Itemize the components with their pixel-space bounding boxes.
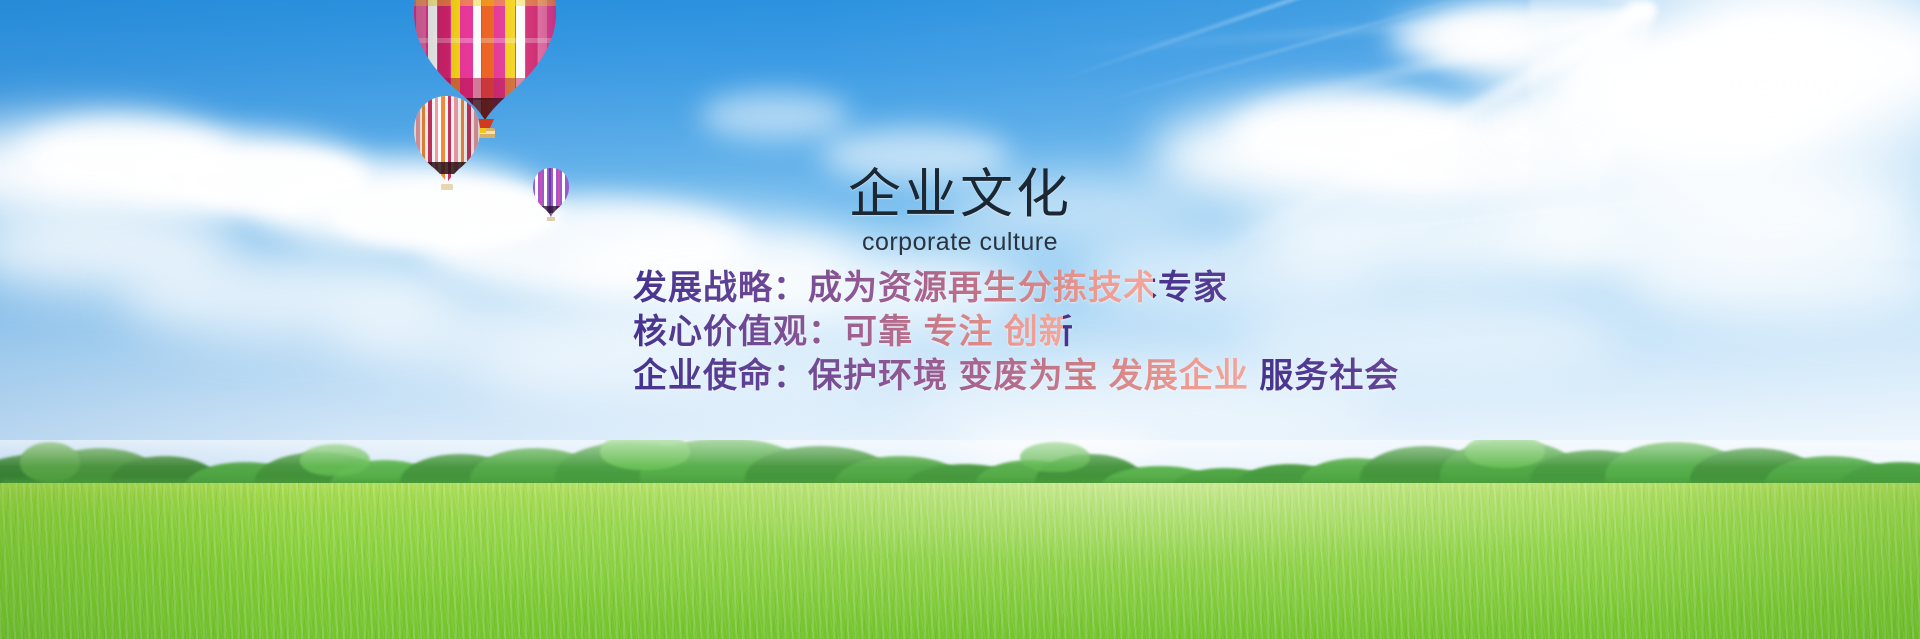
small-hot-air-balloon — [532, 168, 570, 222]
sun-icon — [1530, 0, 1920, 260]
grass-field — [0, 483, 1920, 639]
corporate-culture-banner: 企业文化 corporate culture 发展战略：成为资源再生分拣技术专家… — [0, 0, 1920, 639]
grass-vignette — [0, 483, 1920, 639]
medium-hot-air-balloon — [412, 96, 482, 192]
